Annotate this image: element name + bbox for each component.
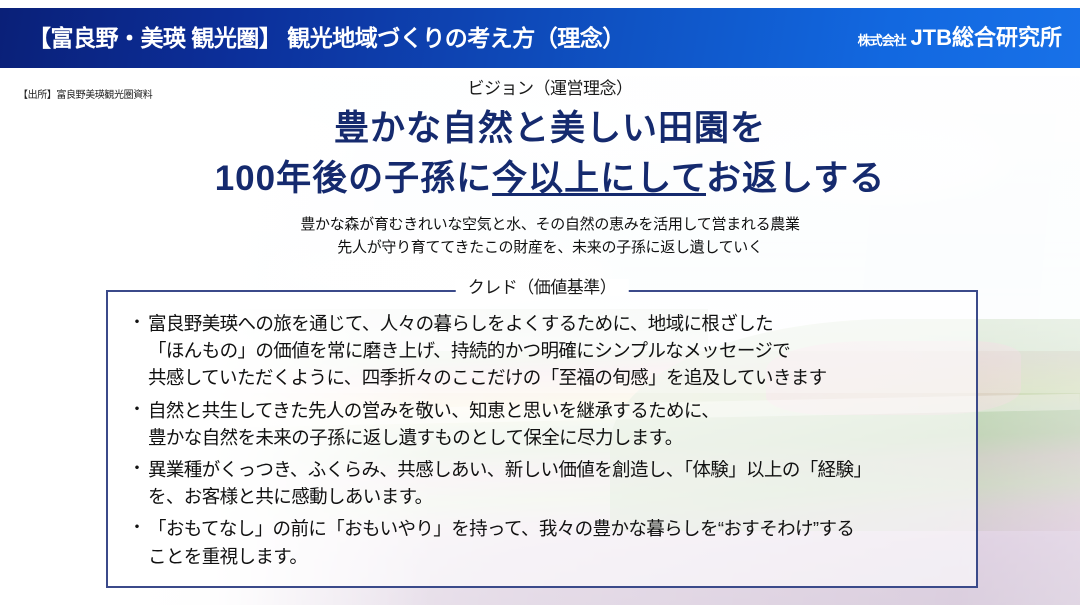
credo-item-text: 「おもてなし」の前に「おもいやり」を持って、我々の豊かな暮らしを“おすそわけ”す…: [148, 515, 962, 569]
bullet-icon: ・: [126, 310, 148, 336]
vision-statement-line-2: 100年後の子孫に今以上にしてお返しする: [100, 159, 1000, 199]
credo-item-line: 「おもてなし」の前に「おもいやり」を持って、我々の豊かな暮らしを“おすそわけ”す…: [148, 515, 962, 542]
bullet-icon: ・: [126, 515, 148, 541]
list-item: ・ 自然と共生してきた先人の営みを敬い、知恵と思いを継承するために、 豊かな自然…: [126, 397, 962, 451]
list-item: ・ 異業種がくっつき、ふくらみ、共感しあい、新しい価値を創造し、「体験」以上の「…: [126, 456, 962, 510]
credo-list: ・ 富良野美瑛への旅を通じて、人々の暮らしをよくするために、地域に根ざした 「ほ…: [108, 292, 976, 570]
credo-item-line: を、お客様と共に感動しあいます。: [148, 483, 962, 510]
slide-header-bar: 【富良野・美瑛 観光圏】 観光地域づくりの考え方（理念） 株式会社 JTB総合研…: [0, 8, 1080, 68]
company-name: JTB総合研究所: [910, 25, 1062, 50]
list-item: ・ 富良野美瑛への旅を通じて、人々の暮らしをよくするために、地域に根ざした 「ほ…: [126, 310, 962, 392]
vision-label: ビジョン（運営理念）: [100, 80, 1000, 99]
credo-item-text: 自然と共生してきた先人の営みを敬い、知恵と思いを継承するために、 豊かな自然を未…: [148, 397, 962, 451]
credo-box: クレド（価値基準） ・ 富良野美瑛への旅を通じて、人々の暮らしをよくするために、…: [106, 290, 978, 588]
vision-subtext-line: 豊かな森が育むきれいな空気と水、その自然の恵みを活用して営まれる農業: [100, 213, 1000, 236]
credo-item-line: 富良野美瑛への旅を通じて、人々の暮らしをよくするために、地域に根ざした: [148, 310, 962, 337]
credo-item-text: 富良野美瑛への旅を通じて、人々の暮らしをよくするために、地域に根ざした 「ほんも…: [148, 310, 962, 392]
vision-line2-after: お返しする: [706, 159, 885, 198]
vision-line2-underlined: 今以上にして: [492, 159, 706, 198]
vision-line2-before: 100年後の子孫に: [215, 159, 492, 198]
credo-item-line: 豊かな自然を未来の子孫に返し遺すものとして保全に尽力します。: [148, 424, 962, 451]
list-item: ・ 「おもてなし」の前に「おもいやり」を持って、我々の豊かな暮らしを“おすそわけ…: [126, 515, 962, 569]
bullet-icon: ・: [126, 456, 148, 482]
page-title: 【富良野・美瑛 観光圏】 観光地域づくりの考え方（理念）: [28, 27, 625, 50]
credo-item-line: ことを重視します。: [148, 543, 962, 570]
credo-item-line: 「ほんもの」の価値を常に磨き上げ、持続的かつ明確にシンプルなメッセージで: [148, 337, 962, 364]
credo-item-text: 異業種がくっつき、ふくらみ、共感しあい、新しい価値を創造し、「体験」以上の「経験…: [148, 456, 962, 510]
vision-subtext-line: 先人が守り育ててきたこの財産を、未来の子孫に返し遺していく: [100, 236, 1000, 259]
company-prefix: 株式会社: [858, 33, 906, 48]
vision-block: ビジョン（運営理念） 豊かな自然と美しい田園を 100年後の子孫に今以上にしてお…: [100, 80, 1000, 260]
slide-root: 【富良野・美瑛 観光圏】 観光地域づくりの考え方（理念） 株式会社 JTB総合研…: [0, 0, 1080, 605]
vision-statement-line-1: 豊かな自然と美しい田園を: [100, 109, 1000, 149]
credo-item-line: 共感していただくように、四季折々のここだけの「至福の旬感」を追及していきます: [148, 364, 962, 391]
credo-item-line: 自然と共生してきた先人の営みを敬い、知恵と思いを継承するために、: [148, 397, 962, 424]
vision-subtext: 豊かな森が育むきれいな空気と水、その自然の恵みを活用して営まれる農業 先人が守り…: [100, 213, 1000, 260]
company-logo-text: 株式会社 JTB総合研究所: [858, 27, 1062, 49]
credo-legend-title: クレド（価値基準）: [456, 279, 629, 296]
credo-item-line: 異業種がくっつき、ふくらみ、共感しあい、新しい価値を創造し、「体験」以上の「経験…: [148, 456, 962, 483]
bullet-icon: ・: [126, 397, 148, 423]
